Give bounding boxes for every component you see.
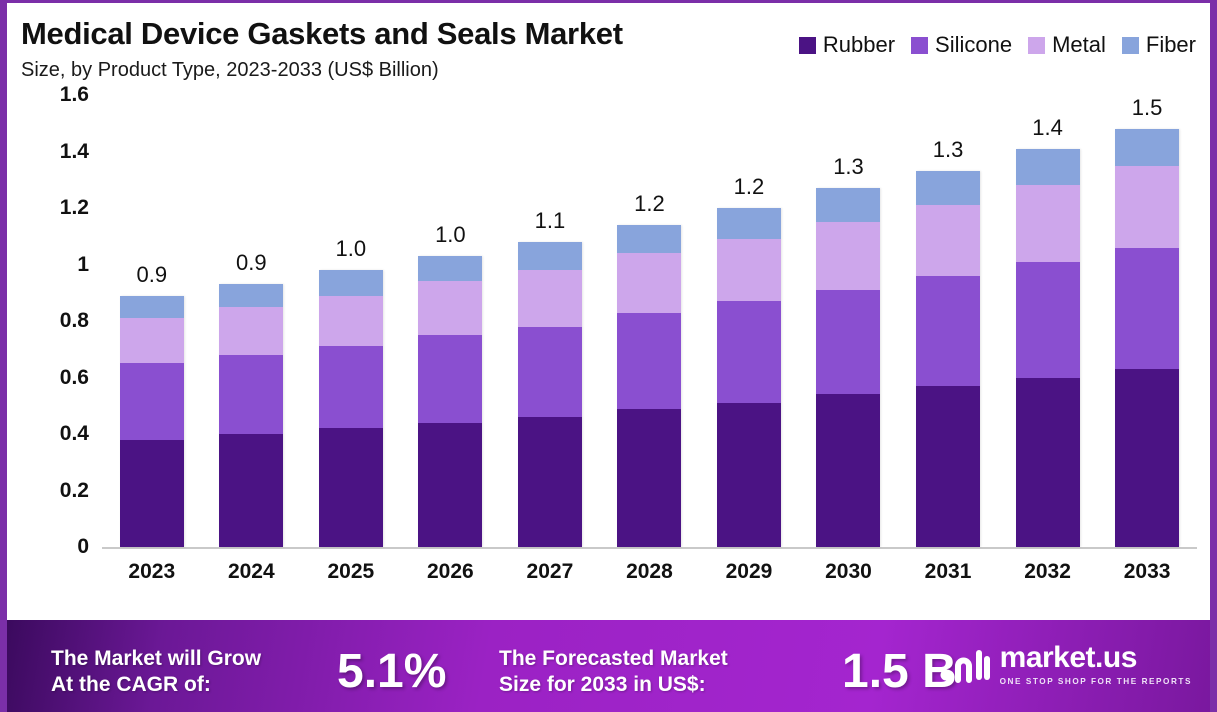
legend-label: Rubber <box>823 32 895 58</box>
cagr-label: The Market will Grow At the CAGR of: <box>51 646 261 699</box>
x-axis-tick-label: 2023 <box>102 560 201 584</box>
bar-stack[interactable] <box>617 225 681 547</box>
bar-segment-rubber[interactable] <box>319 428 383 547</box>
bar-segment-silicone[interactable] <box>717 301 781 403</box>
bar-column-2024[interactable]: 0.9 <box>202 95 301 547</box>
x-axis-tick-label: 2030 <box>799 560 898 584</box>
bar-value-label: 0.9 <box>102 262 201 288</box>
bar-segment-metal[interactable] <box>120 318 184 363</box>
bar-segment-rubber[interactable] <box>617 409 681 547</box>
bar-segment-fiber[interactable] <box>120 296 184 319</box>
bar-stack[interactable] <box>916 171 980 547</box>
bar-stack[interactable] <box>120 296 184 547</box>
x-axis: 2023202420252026202720282029203020312032… <box>102 549 1197 595</box>
bar-value-label: 1.5 <box>1098 95 1197 121</box>
footer-banner: The Market will Grow At the CAGR of: 5.1… <box>7 620 1210 712</box>
bar-column-2030[interactable]: 1.3 <box>799 95 898 547</box>
bar-segment-rubber[interactable] <box>916 386 980 547</box>
chart-legend: RubberSiliconeMetalFiber <box>799 32 1196 58</box>
bar-column-2032[interactable]: 1.4 <box>998 95 1097 547</box>
bar-stack[interactable] <box>418 256 482 547</box>
bar-value-label: 1.1 <box>500 208 599 234</box>
logo-tagline: ONE STOP SHOP FOR THE REPORTS <box>1000 677 1192 686</box>
bar-column-2031[interactable]: 1.3 <box>899 95 998 547</box>
legend-item-fiber[interactable]: Fiber <box>1122 32 1196 58</box>
x-axis-tick-label: 2026 <box>401 560 500 584</box>
bar-column-2025[interactable]: 1.0 <box>301 95 400 547</box>
cagr-value: 5.1% <box>337 644 446 699</box>
legend-item-rubber[interactable]: Rubber <box>799 32 895 58</box>
legend-swatch-icon <box>1122 37 1139 54</box>
legend-label: Metal <box>1052 32 1106 58</box>
forecast-label-line1: The Forecasted Market <box>499 647 728 670</box>
chart-header: Medical Device Gaskets and Seals Market … <box>7 3 1210 95</box>
bar-segment-silicone[interactable] <box>617 313 681 409</box>
bar-segment-fiber[interactable] <box>617 225 681 253</box>
bar-segment-silicone[interactable] <box>319 346 383 428</box>
x-axis-tick-label: 2024 <box>202 560 301 584</box>
bar-segment-fiber[interactable] <box>1016 149 1080 186</box>
bar-value-label: 1.3 <box>799 154 898 180</box>
bar-stack[interactable] <box>319 270 383 547</box>
bar-segment-fiber[interactable] <box>219 284 283 307</box>
bar-segment-fiber[interactable] <box>319 270 383 295</box>
x-axis-tick-label: 2028 <box>600 560 699 584</box>
bar-segment-silicone[interactable] <box>219 355 283 434</box>
bar-segment-rubber[interactable] <box>717 403 781 547</box>
bar-segment-metal[interactable] <box>816 222 880 290</box>
bar-segment-rubber[interactable] <box>816 394 880 547</box>
y-axis-tick-label: 0.4 <box>60 422 89 446</box>
bar-stack[interactable] <box>816 188 880 547</box>
bar-value-label: 1.0 <box>301 236 400 262</box>
bar-segment-rubber[interactable] <box>518 417 582 547</box>
bar-column-2027[interactable]: 1.1 <box>500 95 599 547</box>
bar-segment-metal[interactable] <box>1016 185 1080 261</box>
bar-segment-rubber[interactable] <box>418 423 482 547</box>
forecast-label-line2: Size for 2033 in US$: <box>499 673 706 696</box>
bar-value-label: 1.0 <box>401 222 500 248</box>
bar-segment-fiber[interactable] <box>518 242 582 270</box>
bar-segment-metal[interactable] <box>617 253 681 312</box>
bar-segment-fiber[interactable] <box>418 256 482 281</box>
bar-segment-metal[interactable] <box>518 270 582 326</box>
forecast-label: The Forecasted Market Size for 2033 in U… <box>499 646 728 699</box>
bar-segment-metal[interactable] <box>717 239 781 301</box>
bar-column-2029[interactable]: 1.2 <box>699 95 798 547</box>
legend-label: Silicone <box>935 32 1012 58</box>
plot-area: 00.20.40.60.811.21.41.6 0.90.91.01.01.11… <box>7 95 1210 605</box>
x-axis-tick-label: 2033 <box>1098 560 1197 584</box>
bar-segment-silicone[interactable] <box>816 290 880 395</box>
y-axis-tick-label: 1.2 <box>60 196 89 220</box>
bar-stack[interactable] <box>219 284 283 547</box>
bar-value-label: 1.2 <box>600 191 699 217</box>
bar-column-2023[interactable]: 0.9 <box>102 95 201 547</box>
bar-segment-silicone[interactable] <box>916 276 980 386</box>
x-axis-tick-label: 2029 <box>699 560 798 584</box>
bar-column-2026[interactable]: 1.0 <box>401 95 500 547</box>
page-title: Medical Device Gaskets and Seals Market <box>21 16 623 52</box>
bar-stack[interactable] <box>1016 149 1080 547</box>
x-axis-tick-label: 2031 <box>899 560 998 584</box>
cagr-label-line2: At the CAGR of: <box>51 673 211 696</box>
bar-segment-metal[interactable] <box>219 307 283 355</box>
legend-swatch-icon <box>799 37 816 54</box>
bar-segment-silicone[interactable] <box>120 363 184 439</box>
x-axis-tick-label: 2025 <box>301 560 400 584</box>
page-subtitle: Size, by Product Type, 2023-2033 (US$ Bi… <box>21 59 439 82</box>
legend-swatch-icon <box>911 37 928 54</box>
bar-stack[interactable] <box>518 242 582 547</box>
bar-value-label: 1.2 <box>699 174 798 200</box>
bar-column-2033[interactable]: 1.5 <box>1098 95 1197 547</box>
bar-segment-silicone[interactable] <box>1016 262 1080 378</box>
bar-segment-silicone[interactable] <box>1115 248 1179 369</box>
bar-segment-rubber[interactable] <box>1115 369 1179 547</box>
y-axis-tick-label: 1.6 <box>60 83 89 107</box>
market-us-logo[interactable]: market.us ONE STOP SHOP FOR THE REPORTS <box>940 642 1192 686</box>
bar-value-label: 0.9 <box>202 250 301 276</box>
logo-wordmark: market.us <box>1000 643 1192 673</box>
legend-item-metal[interactable]: Metal <box>1028 32 1106 58</box>
bar-segment-metal[interactable] <box>916 205 980 276</box>
bar-segment-silicone[interactable] <box>518 327 582 417</box>
bar-segment-rubber[interactable] <box>219 434 283 547</box>
y-axis-tick-label: 0.6 <box>60 366 89 390</box>
bar-segment-rubber[interactable] <box>1016 378 1080 547</box>
bar-value-label: 1.4 <box>998 115 1097 141</box>
y-axis-tick-label: 0 <box>77 535 89 559</box>
bar-stack[interactable] <box>1115 129 1179 547</box>
bar-segment-fiber[interactable] <box>1115 129 1179 166</box>
cagr-label-line1: The Market will Grow <box>51 647 261 670</box>
y-axis-tick-label: 1 <box>77 253 89 277</box>
bar-segment-silicone[interactable] <box>418 335 482 423</box>
bar-segment-fiber[interactable] <box>816 188 880 222</box>
legend-swatch-icon <box>1028 37 1045 54</box>
bar-segment-fiber[interactable] <box>717 208 781 239</box>
bar-segment-metal[interactable] <box>319 296 383 347</box>
bar-segment-rubber[interactable] <box>120 440 184 547</box>
x-axis-tick-label: 2032 <box>998 560 1097 584</box>
legend-item-silicone[interactable]: Silicone <box>911 32 1012 58</box>
bar-group: 0.90.91.01.01.11.21.21.31.31.41.5 <box>102 95 1197 547</box>
y-axis: 00.20.40.60.811.21.41.6 <box>7 95 102 547</box>
y-axis-tick-label: 0.2 <box>60 479 89 503</box>
legend-label: Fiber <box>1146 32 1196 58</box>
y-axis-tick-label: 0.8 <box>60 309 89 333</box>
bar-chart-logo-icon <box>940 642 990 686</box>
x-axis-tick-label: 2027 <box>500 560 599 584</box>
bar-segment-metal[interactable] <box>1115 166 1179 248</box>
bar-segment-fiber[interactable] <box>916 171 980 205</box>
logo-text: market.us ONE STOP SHOP FOR THE REPORTS <box>1000 643 1192 686</box>
y-axis-tick-label: 1.4 <box>60 140 89 164</box>
bar-stack[interactable] <box>717 208 781 547</box>
bar-column-2028[interactable]: 1.2 <box>600 95 699 547</box>
bar-segment-metal[interactable] <box>418 281 482 335</box>
chart-frame: Medical Device Gaskets and Seals Market … <box>0 0 1217 712</box>
bar-value-label: 1.3 <box>899 137 998 163</box>
